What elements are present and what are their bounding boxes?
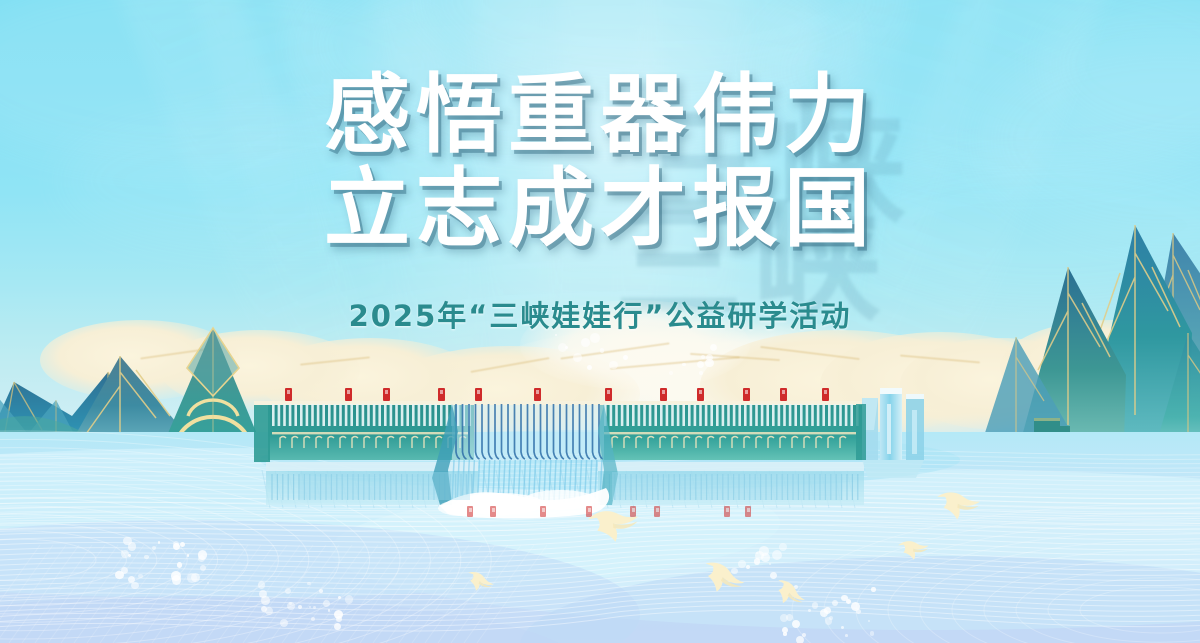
dam-flag [285, 388, 292, 401]
water-bubble [187, 573, 197, 583]
water-bubble [121, 567, 128, 574]
water-bubble [769, 563, 771, 565]
water-bubble [609, 361, 618, 370]
water-bubble [829, 616, 833, 620]
dam-left-abutment [254, 401, 270, 462]
water-bubble [177, 562, 182, 567]
dam-lower-flag [490, 506, 496, 517]
water-bubble [846, 599, 851, 604]
dam-flag [438, 388, 445, 401]
water-bubble [710, 344, 717, 351]
dam-flag [780, 388, 787, 401]
water-bubble [812, 602, 818, 608]
water-bubble [871, 587, 875, 591]
dam-lower-flag [540, 506, 546, 517]
water-bubble [870, 631, 875, 636]
water-bubble [558, 343, 567, 352]
dam-flag [822, 388, 829, 401]
water-bubble [280, 619, 288, 627]
dam-flag [345, 388, 352, 401]
water-bubble [705, 359, 713, 367]
water-bubble [782, 627, 788, 633]
dam-flag [697, 388, 704, 401]
water-bubble [590, 333, 600, 343]
water-bubble [171, 571, 181, 581]
water-bubble [319, 589, 323, 593]
water-bubble [334, 623, 341, 630]
dam-flag [743, 388, 750, 401]
dam-right-abutment [856, 404, 866, 460]
water-bubble [307, 582, 311, 586]
water-bubble [259, 590, 267, 598]
water-bubble [152, 546, 156, 550]
water-bubble [587, 365, 592, 370]
water-bubble [832, 600, 838, 606]
water-bubble [345, 595, 353, 603]
water-bubble [128, 542, 136, 550]
water-bubble [802, 633, 806, 637]
dam-flag [605, 388, 612, 401]
dam-flag [534, 388, 541, 401]
water-bubble [786, 614, 793, 621]
water-bubble [824, 607, 831, 614]
water-bubble [783, 632, 786, 635]
dam-lower-flag [467, 506, 473, 517]
water-bubble [328, 609, 330, 611]
dam-flag [383, 388, 390, 401]
dam-lower-flag [654, 506, 660, 517]
water-bubble [573, 353, 582, 362]
dam-lower-flag [724, 506, 730, 517]
ship-lift-tower [862, 388, 924, 478]
water-bubble [845, 634, 848, 637]
water-bubble [200, 565, 206, 571]
water-bubble [173, 543, 180, 550]
bird-5-icon [933, 483, 987, 524]
water-bubble [258, 581, 266, 589]
water-bubble [699, 371, 703, 375]
water-bubble [336, 616, 342, 622]
poster-banner: 三峡 三峡 [0, 0, 1200, 643]
water-bubble [289, 602, 291, 604]
water-bubble [311, 617, 315, 621]
dam-flag [660, 388, 667, 401]
water-bubble [198, 550, 207, 559]
dam-flag [475, 388, 482, 401]
water-bubble [779, 543, 787, 551]
dam-lower-flag [745, 506, 751, 517]
water-bubble [755, 551, 764, 560]
dam-spillway [432, 401, 618, 519]
water-bubble [682, 363, 685, 366]
water-bubble [851, 602, 860, 611]
